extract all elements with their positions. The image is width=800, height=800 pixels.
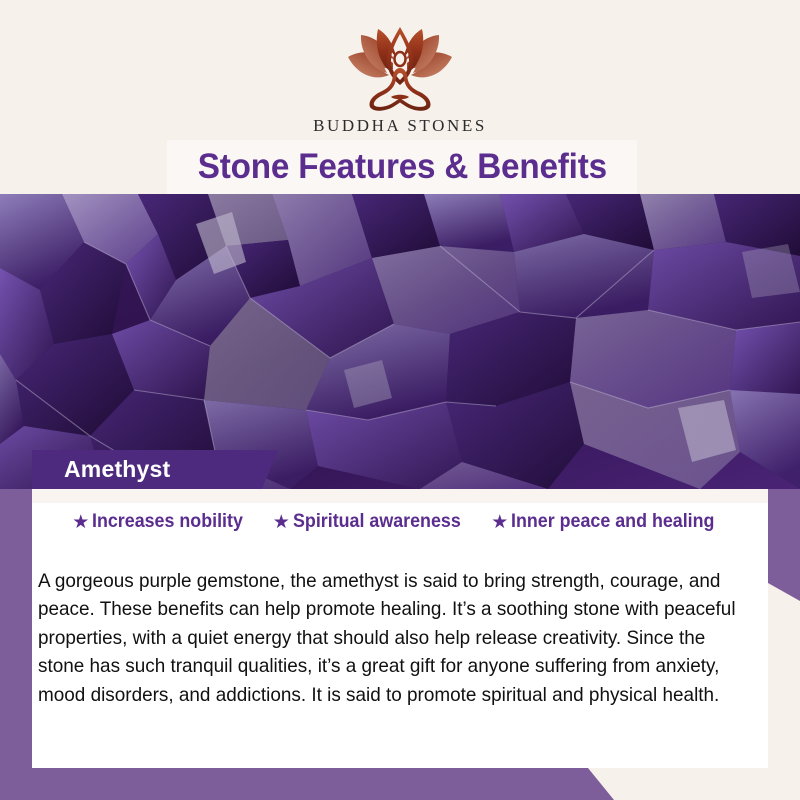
frame-band-bottom (0, 768, 614, 800)
star-icon: ★ (491, 513, 508, 532)
page-title: Stone Features & Benefits (197, 147, 606, 187)
benefit-item: ★ Inner peace and healing (491, 511, 728, 533)
hero-image (0, 194, 800, 489)
benefits-list: ★ Increases nobility ★ Spiritual awarene… (32, 511, 768, 533)
star-icon: ★ (273, 513, 290, 532)
title-plate: Stone Features & Benefits (167, 140, 637, 194)
stone-name-banner: Amethyst (32, 450, 278, 489)
amethyst-crystal-cluster-photo (0, 194, 800, 489)
brand-logo: BUDDHA STONES (0, 26, 800, 136)
stone-description: A gorgeous purple gemstone, the amethyst… (38, 567, 740, 710)
content-panel: ★ Increases nobility ★ Spiritual awarene… (32, 489, 768, 768)
infographic-card: BUDDHA STONES Stone Features & Benefits (0, 0, 800, 800)
content-top-strip (32, 489, 768, 503)
star-icon: ★ (72, 513, 89, 532)
benefit-item: ★ Increases nobility (72, 511, 253, 533)
benefit-item: ★ Spiritual awareness (273, 511, 472, 533)
benefit-label: Inner peace and healing (511, 511, 714, 533)
stone-name: Amethyst (64, 456, 170, 483)
brand-name: BUDDHA STONES (0, 116, 800, 136)
frame-band-left (0, 488, 32, 800)
benefit-label: Spiritual awareness (293, 511, 461, 533)
benefit-label: Increases nobility (92, 511, 243, 533)
lotus-meditation-figure-icon (341, 26, 459, 112)
